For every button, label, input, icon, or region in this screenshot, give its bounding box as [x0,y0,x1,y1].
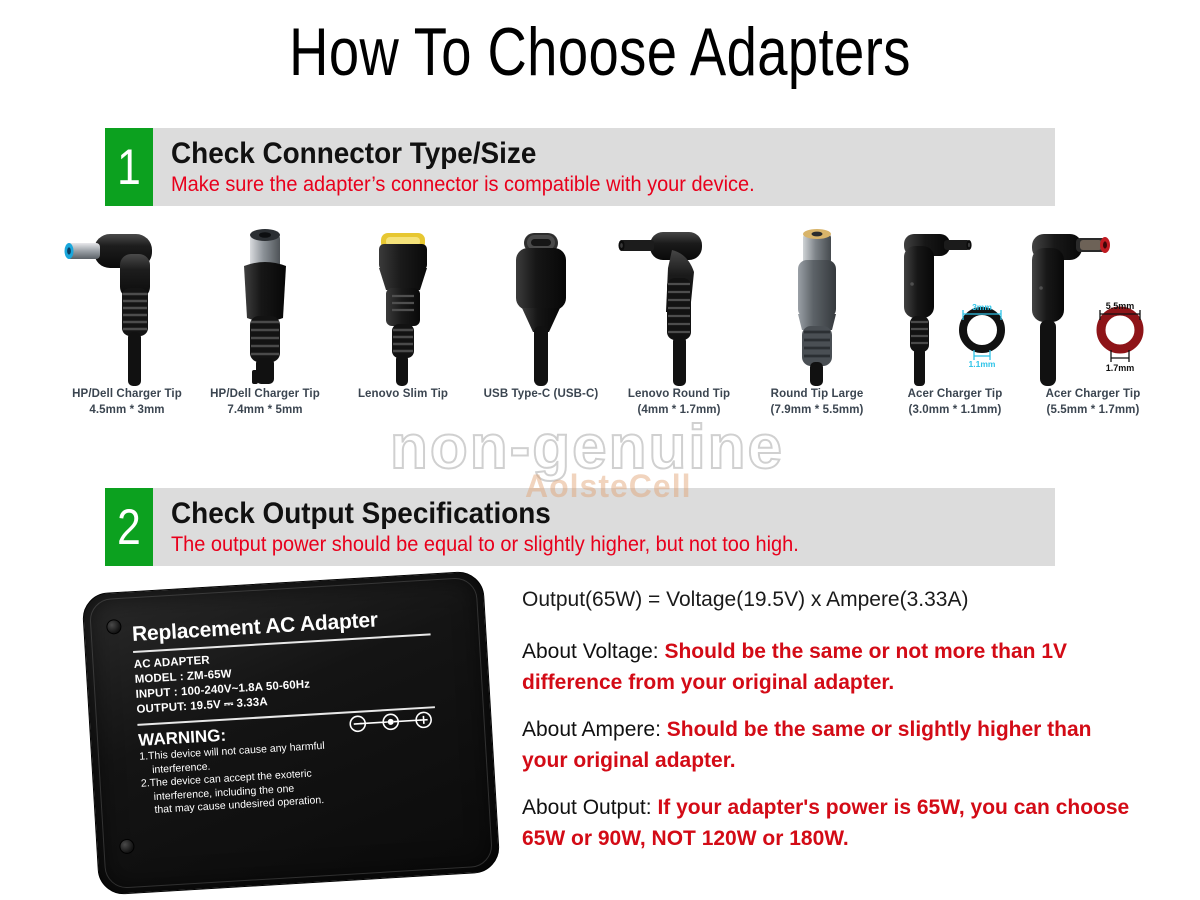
hp-barrel-straight-tip-icon [196,226,334,386]
step-1-number: 1 [117,142,141,192]
acer-3mm-dimension-inset: 3mm 1.1mm [963,302,1001,369]
svg-text:3mm: 3mm [972,302,992,312]
connector-label: Acer Charger Tip (5.5mm * 1.7mm) [1046,386,1141,418]
acer-tip-3mm-icon: 3mm 1.1mm [886,226,1024,386]
output-equation: Output(65W) = Voltage(19.5V) x Ampere(3.… [522,586,1142,614]
connector-gallery: HP/Dell Charger Tip 4.5mm * 3mm [58,226,1168,441]
usb-type-c-tip-icon [472,226,610,386]
infographic-page: How To Choose Adapters 1 Check Connector… [0,0,1200,900]
step-1-title: Check Connector Type/Size [171,137,993,170]
step-1-subtitle: Make sure the adapter’s connector is com… [171,172,1011,198]
connector-label: Lenovo Slim Tip [358,386,448,402]
step-2-number: 2 [117,502,141,552]
connector-item-acer-3mm[interactable]: 3mm 1.1mm Acer Charger Tip (3.0mm * 1.1m… [886,226,1024,441]
connector-label: Acer Charger Tip (3.0mm * 1.1mm) [908,386,1003,418]
connector-label: Round Tip Large (7.9mm * 5.5mm) [771,386,864,418]
hp-blue-tip-right-angle-icon [58,226,196,386]
svg-text:1.7mm: 1.7mm [1106,363,1135,373]
connector-label: USB Type-C (USB-C) [484,386,599,402]
acer-5-5mm-dimension-inset: 5.5mm 1.7mm [1100,301,1140,373]
connector-item-hp-7-4mm[interactable]: HP/Dell Charger Tip 7.4mm * 5mm [196,226,334,441]
round-tip-large-gray-icon [748,226,886,386]
screw-icon [119,838,135,854]
connector-label: Lenovo Round Tip (4mm * 1.7mm) [628,386,730,418]
about-output-label: About Output: [522,796,657,819]
connector-item-acer-5-5mm[interactable]: 5.5mm 1.7mm Acer Charger Tip (5.5mm * 1.… [1024,226,1162,441]
lenovo-round-tip-right-angle-icon [610,226,748,386]
acer-tip-5-5mm-icon: 5.5mm 1.7mm [1024,226,1162,386]
connector-item-round-large[interactable]: Round Tip Large (7.9mm * 5.5mm) [748,226,886,441]
step-1-number-badge: 1 [105,128,153,206]
about-voltage-label: About Voltage: [522,640,664,663]
connector-label: HP/Dell Charger Tip 4.5mm * 3mm [72,386,182,418]
connector-item-hp-4-5mm[interactable]: HP/Dell Charger Tip 4.5mm * 3mm [58,226,196,441]
about-output: About Output: If your adapter's power is… [522,792,1142,854]
connector-item-lenovo-round[interactable]: Lenovo Round Tip (4mm * 1.7mm) [610,226,748,441]
connector-label: HP/Dell Charger Tip 7.4mm * 5mm [210,386,320,418]
svg-text:5.5mm: 5.5mm [1106,301,1135,311]
step-2-subtitle: The output power should be equal to or s… [171,532,1011,558]
step-1-text-block: Check Connector Type/Size Make sure the … [153,128,1055,206]
lenovo-slim-yellow-tip-icon [334,226,472,386]
screw-icon [106,619,122,635]
svg-text:1.1mm: 1.1mm [969,359,996,369]
page-title: How To Choose Adapters [120,14,1080,90]
output-spec-text-column: Output(65W) = Voltage(19.5V) x Ampere(3.… [522,586,1142,870]
step-1-header: 1 Check Connector Type/Size Make sure th… [105,128,1055,206]
step-2-number-badge: 2 [105,488,153,566]
adapter-photo: Replacement AC Adapter AC ADAPTER MODEL … [78,576,498,896]
connector-item-usb-c[interactable]: USB Type-C (USB-C) [472,226,610,441]
adapter-label: Replacement AC Adapter AC ADAPTER MODEL … [131,605,442,854]
about-ampere: About Ampere: Should be the same or slig… [522,714,1142,776]
connector-item-lenovo-slim[interactable]: Lenovo Slim Tip [334,226,472,441]
about-ampere-label: About Ampere: [522,718,667,741]
step-2-text-block: Check Output Specifications The output p… [153,488,1055,566]
step-2-header: 2 Check Output Specifications The output… [105,488,1055,566]
step-2-title: Check Output Specifications [171,497,993,530]
about-voltage: About Voltage: Should be the same or not… [522,636,1142,698]
